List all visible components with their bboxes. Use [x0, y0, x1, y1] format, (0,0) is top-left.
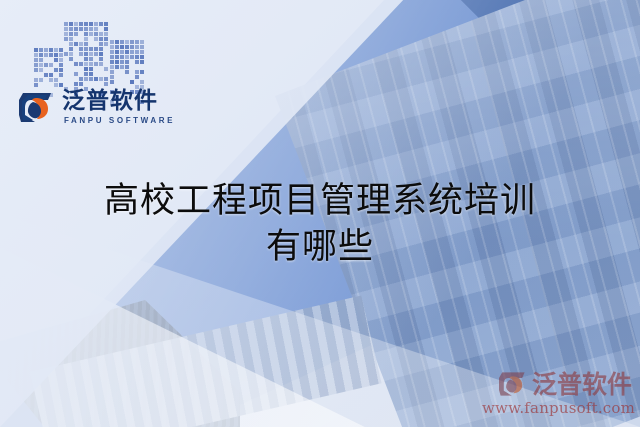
brand-logo: 泛普软件 FANPU SOFTWARE [18, 90, 175, 125]
pixel-skyline-graphic [34, 22, 142, 92]
promo-banner: 泛普软件 FANPU SOFTWARE 高校工程项目管理系统培训 有哪些 泛普软… [0, 0, 640, 427]
page-title: 高校工程项目管理系统培训 有哪些 [0, 178, 640, 270]
logo-english-name: FANPU SOFTWARE [62, 117, 175, 125]
headline-line-2: 有哪些 [34, 224, 606, 270]
fanpu-leaf-mark-icon [18, 90, 55, 125]
logo-chinese-name: 泛普软件 [62, 90, 175, 113]
headline-line-1: 高校工程项目管理系统培训 [34, 178, 606, 224]
